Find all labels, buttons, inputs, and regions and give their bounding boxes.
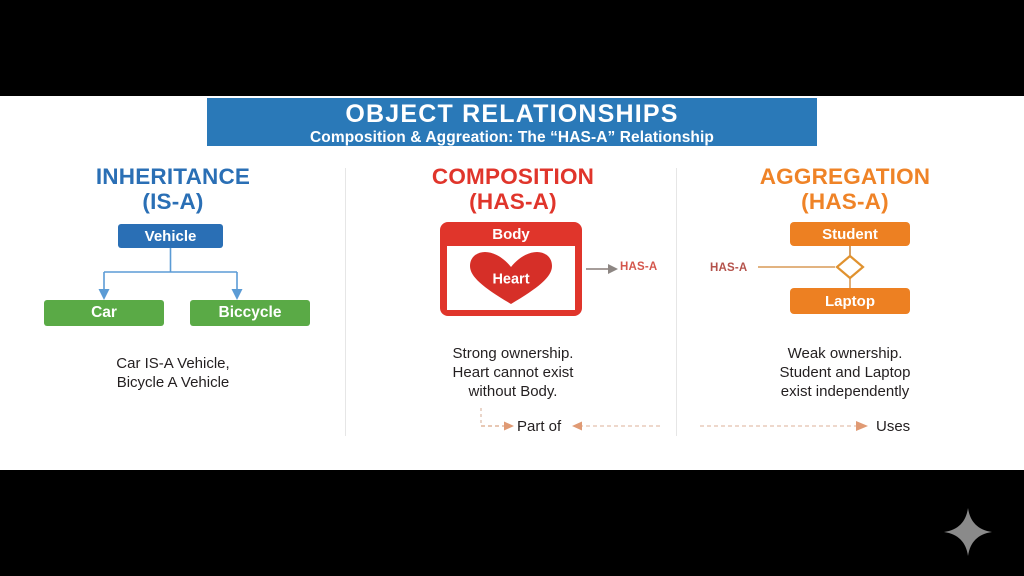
- caption-composition: Strong ownership. Heart cannot exist wit…: [348, 344, 678, 401]
- caption-aggregation-line-2: Student and Laptop: [680, 363, 1010, 382]
- composition-diagram: Body Heart HAS-A: [348, 222, 678, 337]
- composition-arrow-icon: [586, 262, 620, 276]
- caption-aggregation-line-3: exist independently: [680, 382, 1010, 401]
- heart-icon: Heart: [468, 250, 554, 306]
- aggregation-diagram: Student Laptop HAS-A: [680, 222, 1010, 337]
- caption-composition-line-1: Strong ownership.: [348, 344, 678, 363]
- screenshot-root: OBJECT RELATIONSHIPS Composition & Aggre…: [0, 0, 1024, 576]
- caption-aggregation-line-1: Weak ownership.: [680, 344, 1010, 363]
- caption-composition-line-3: without Body.: [348, 382, 678, 401]
- heading-aggregation-main: AGGREGATION: [760, 164, 931, 189]
- node-heart-label: Heart: [468, 272, 554, 288]
- sparkle-star-icon: [940, 504, 996, 560]
- caption-composition-line-2: Heart cannot exist: [348, 363, 678, 382]
- slide-title-banner: OBJECT RELATIONSHIPS Composition & Aggre…: [207, 98, 817, 146]
- heading-inheritance: INHERITANCE (IS-A): [8, 164, 338, 214]
- slide-canvas: OBJECT RELATIONSHIPS Composition & Aggre…: [0, 96, 1024, 470]
- caption-inheritance-line-2: Bicycle A Vehicle: [8, 373, 338, 392]
- legend-part-of-label: Part of: [517, 418, 561, 435]
- node-vehicle[interactable]: Vehicle: [118, 224, 223, 248]
- node-laptop[interactable]: Laptop: [790, 288, 910, 314]
- slide-title: OBJECT RELATIONSHIPS: [207, 98, 817, 128]
- heading-aggregation: AGGREGATION (HAS-A): [680, 164, 1010, 214]
- node-biccycle[interactable]: Biccycle: [190, 300, 310, 326]
- heading-composition: COMPOSITION (HAS-A): [348, 164, 678, 214]
- composition-relation-label: HAS-A: [620, 261, 657, 273]
- caption-inheritance-line-1: Car IS-A Vehicle,: [8, 354, 338, 373]
- node-body[interactable]: Body Heart: [440, 222, 582, 316]
- heading-aggregation-sub: (HAS-A): [680, 189, 1010, 214]
- body-inner-area: Heart: [447, 246, 575, 310]
- node-body-label: Body: [443, 225, 579, 244]
- node-student[interactable]: Student: [790, 222, 910, 246]
- slide-subtitle: Composition & Aggreation: The “HAS-A” Re…: [207, 128, 817, 147]
- caption-aggregation: Weak ownership. Student and Laptop exist…: [680, 344, 1010, 401]
- heading-composition-sub: (HAS-A): [348, 189, 678, 214]
- legend-arrows: [0, 406, 1024, 452]
- heading-inheritance-sub: (IS-A): [8, 189, 338, 214]
- aggregation-relation-label: HAS-A: [710, 262, 747, 274]
- legend-row: Part of Uses: [0, 406, 1024, 452]
- inheritance-diagram: Vehicle Car Biccycle: [8, 224, 338, 334]
- caption-inheritance: Car IS-A Vehicle, Bicycle A Vehicle: [8, 354, 338, 392]
- sparkle-star-svg: [940, 504, 996, 560]
- heading-composition-main: COMPOSITION: [432, 164, 594, 189]
- heading-inheritance-main: INHERITANCE: [96, 164, 250, 189]
- node-car[interactable]: Car: [44, 300, 164, 326]
- legend-uses-label: Uses: [876, 418, 910, 435]
- column-divider-left: [345, 168, 346, 436]
